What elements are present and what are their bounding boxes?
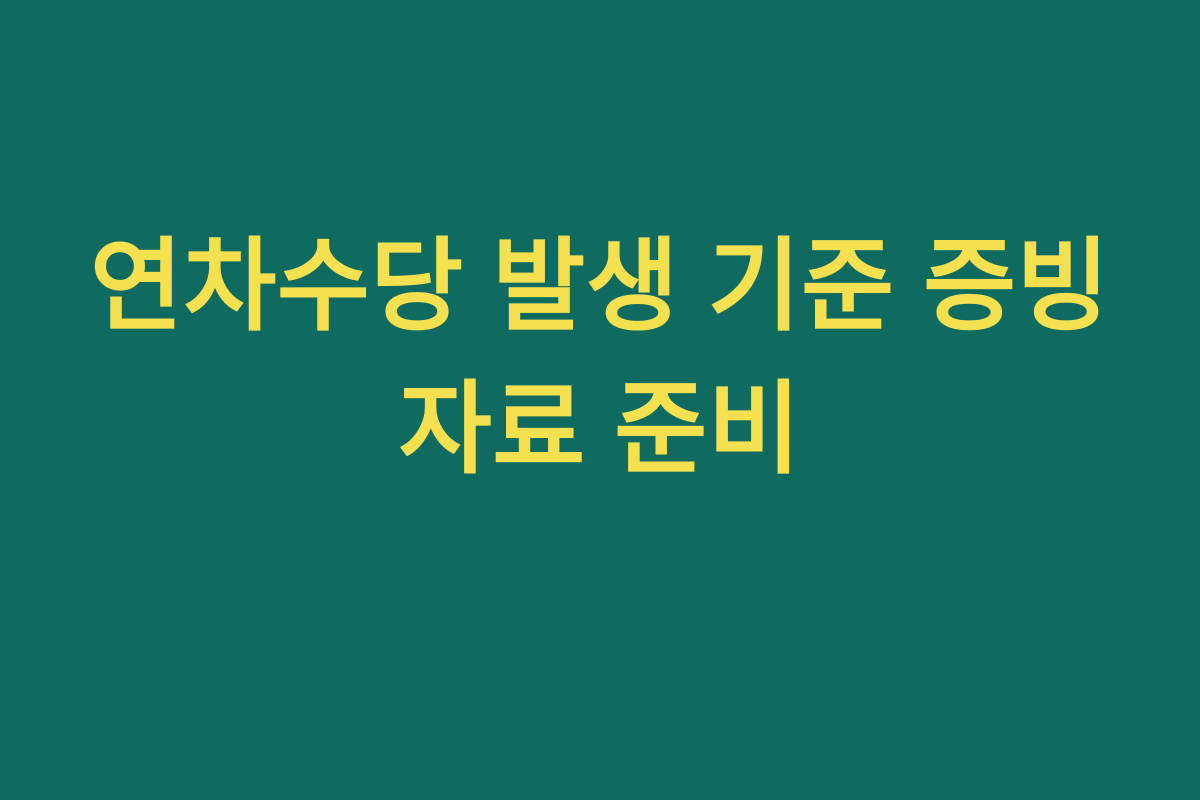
- title-line-2: 자료 준비: [399, 359, 801, 502]
- thumbnail-canvas: 연차수당 발생 기준 증빙 자료 준비: [0, 0, 1200, 800]
- title-line-1: 연차수당 발생 기준 증빙: [90, 216, 1110, 359]
- title-block: 연차수당 발생 기준 증빙 자료 준비: [50, 216, 1150, 503]
